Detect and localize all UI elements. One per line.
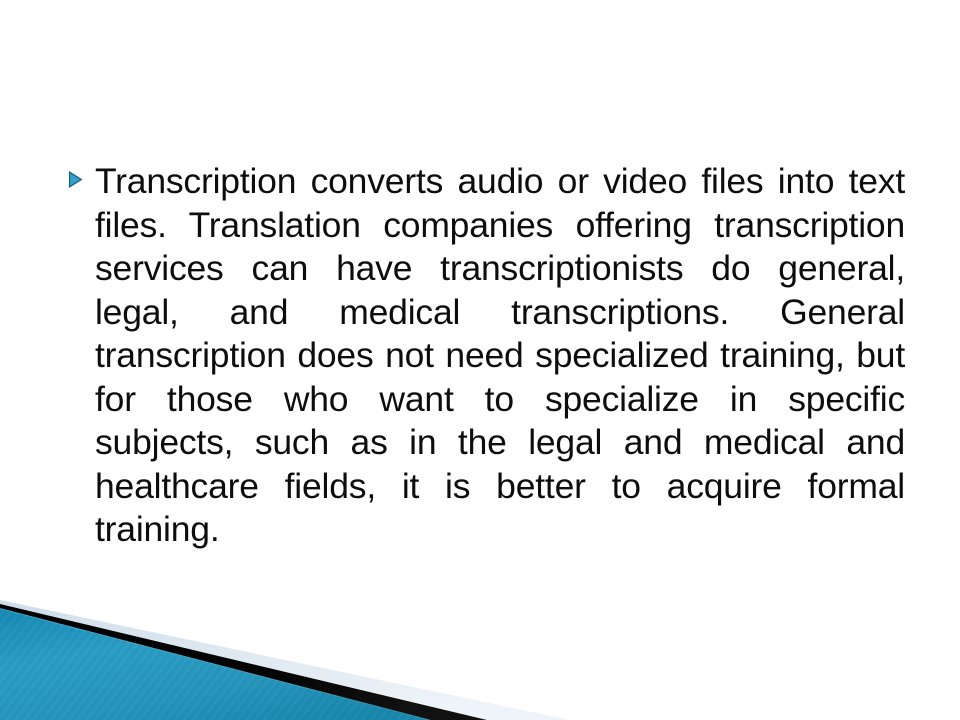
- slide-canvas: Transcription converts audio or video fi…: [0, 0, 960, 720]
- body-paragraph: Transcription converts audio or video fi…: [60, 160, 910, 595]
- triangle-right-bullet-icon: [68, 171, 83, 188]
- content-placeholder[interactable]: Transcription converts audio or video fi…: [60, 160, 910, 595]
- bottom-left-corner-decoration: [0, 580, 620, 720]
- bullet-list-item[interactable]: Transcription converts audio or video fi…: [60, 160, 910, 595]
